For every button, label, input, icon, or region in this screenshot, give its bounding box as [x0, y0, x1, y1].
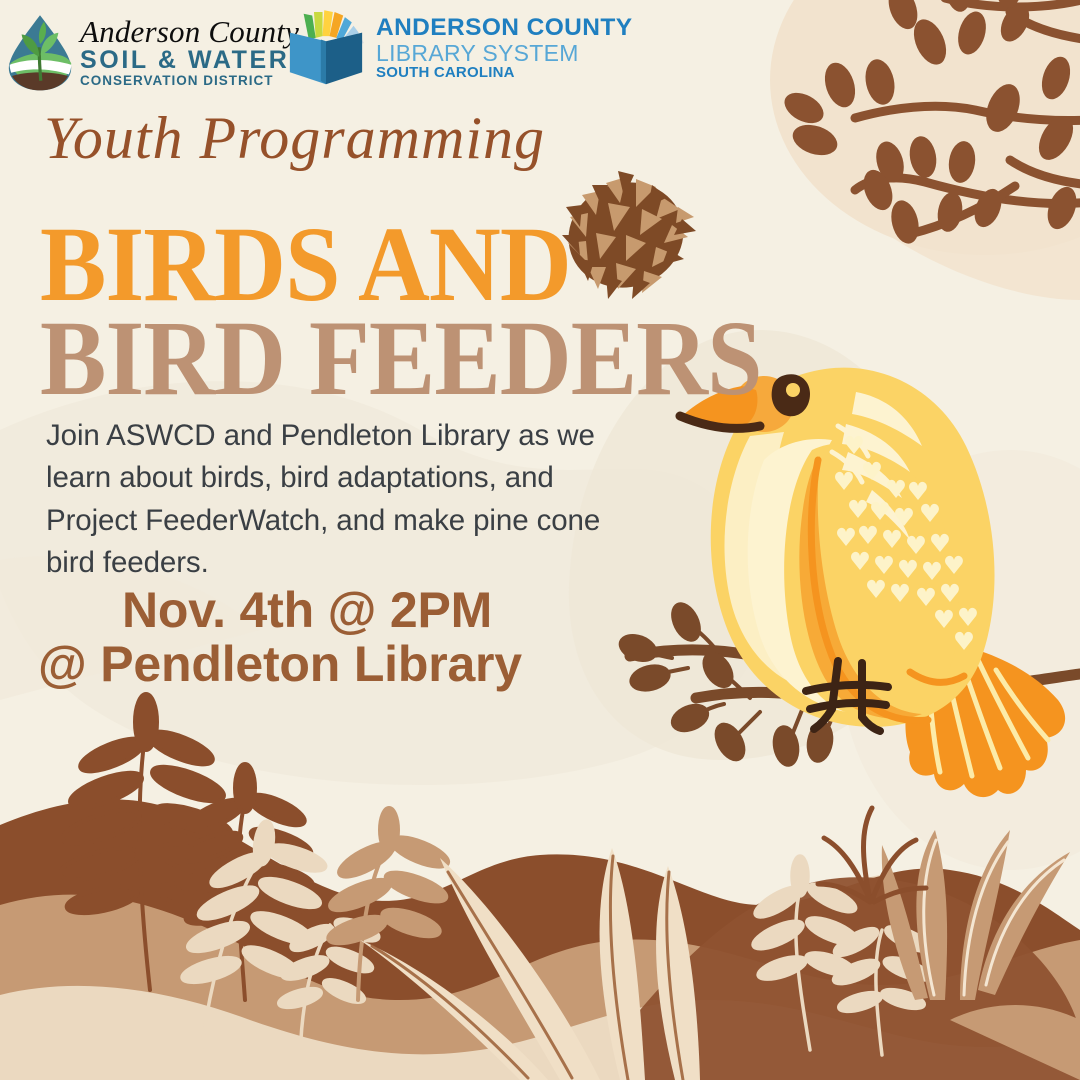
body-description: Join ASWCD and Pendleton Library as we l… — [46, 415, 606, 585]
library-line1: ANDERSON COUNTY — [376, 16, 632, 41]
bird-feet-icon — [790, 655, 910, 735]
aswcd-logo: Anderson County SOIL & WATER CONSERVATIO… — [4, 12, 299, 92]
aswcd-main-text: SOIL & WATER — [80, 47, 299, 73]
library-logo: ANDERSON COUNTY LIBRARY SYSTEM SOUTH CAR… — [283, 10, 632, 88]
kicker-text: Youth Programming — [44, 108, 604, 188]
aswcd-sub-text: CONSERVATION DISTRICT — [80, 73, 299, 89]
water-drop-sprout-icon — [4, 12, 76, 92]
branch-top-right-illustration — [760, 0, 1080, 260]
kicker-label: Youth Programming — [44, 105, 545, 171]
aswcd-script-text: Anderson County — [80, 16, 299, 47]
event-datetime: Nov. 4th @ 2PM — [122, 583, 492, 637]
event-location: @ Pendleton Library — [38, 637, 522, 691]
title-line-2: BIRD FEEDERS — [40, 310, 762, 410]
logo-bar: Anderson County SOIL & WATER CONSERVATIO… — [0, 8, 640, 100]
library-line3: SOUTH CAROLINA — [376, 65, 632, 82]
open-book-icon — [283, 10, 369, 88]
library-line2: LIBRARY SYSTEM — [376, 41, 632, 65]
poster-canvas: Anderson County SOIL & WATER CONSERVATIO… — [0, 0, 1080, 1080]
